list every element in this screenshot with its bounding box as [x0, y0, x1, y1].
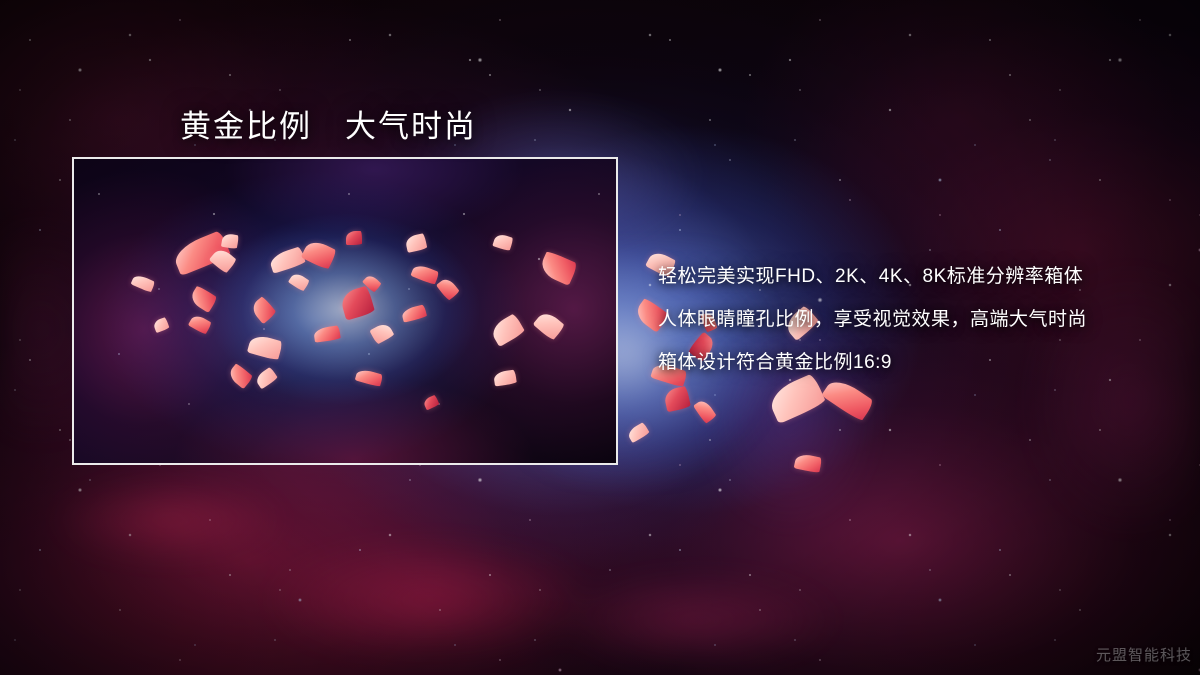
- panel-petal: [221, 233, 239, 250]
- panel-petal: [346, 231, 362, 245]
- slide-body-text: 轻松完美实现FHD、2K、4K、8K标准分辨率箱体 人体眼睛瞳孔比例，享受视觉效…: [658, 255, 1168, 384]
- body-line-2: 人体眼睛瞳孔比例，享受视觉效果，高端大气时尚: [658, 298, 1168, 341]
- body-line-3: 箱体设计符合黄金比例16:9: [658, 341, 1168, 384]
- body-line-1: 轻松完美实现FHD、2K、4K、8K标准分辨率箱体: [658, 255, 1168, 298]
- image-frame-panel: [72, 157, 618, 465]
- presentation-slide: 黄金比例 大气时尚 轻松完美实现FHD、2K、4K、8K标准分辨率箱体 人体眼睛…: [0, 0, 1200, 675]
- slide-title: 黄金比例 大气时尚: [180, 101, 477, 146]
- brand-watermark: 元盟智能科技: [1096, 644, 1192, 665]
